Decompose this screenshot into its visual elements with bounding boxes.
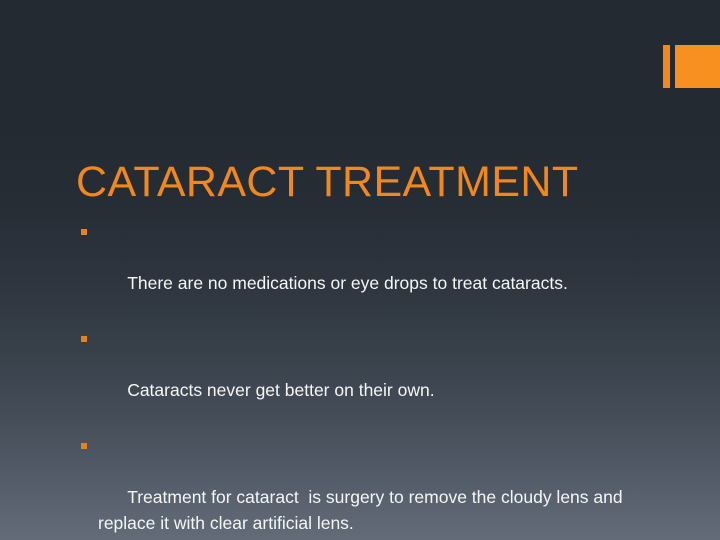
list-item: There are no medications or eye drops to…	[78, 220, 648, 322]
list-item: Cataracts never get better on their own.	[78, 327, 648, 429]
bullet-square-icon	[81, 443, 87, 449]
slide-title: CATARACT TREATMENT	[76, 157, 579, 207]
list-item-text: Cataracts never get better on their own.	[127, 380, 434, 400]
list-item-text: There are no medications or eye drops to…	[127, 273, 568, 293]
list-item: Treatment for cataract is surgery to rem…	[78, 434, 648, 540]
corner-decoration	[663, 45, 720, 88]
decoration-wide-block	[675, 45, 720, 88]
bullet-square-icon	[81, 229, 87, 235]
list-item-text: Treatment for cataract is surgery to rem…	[98, 487, 627, 533]
bullet-list: There are no medications or eye drops to…	[78, 220, 648, 540]
bullet-square-icon	[81, 336, 87, 342]
decoration-thin-bar	[663, 45, 670, 88]
slide-canvas: CATARACT TREATMENT There are no medicati…	[0, 0, 720, 540]
